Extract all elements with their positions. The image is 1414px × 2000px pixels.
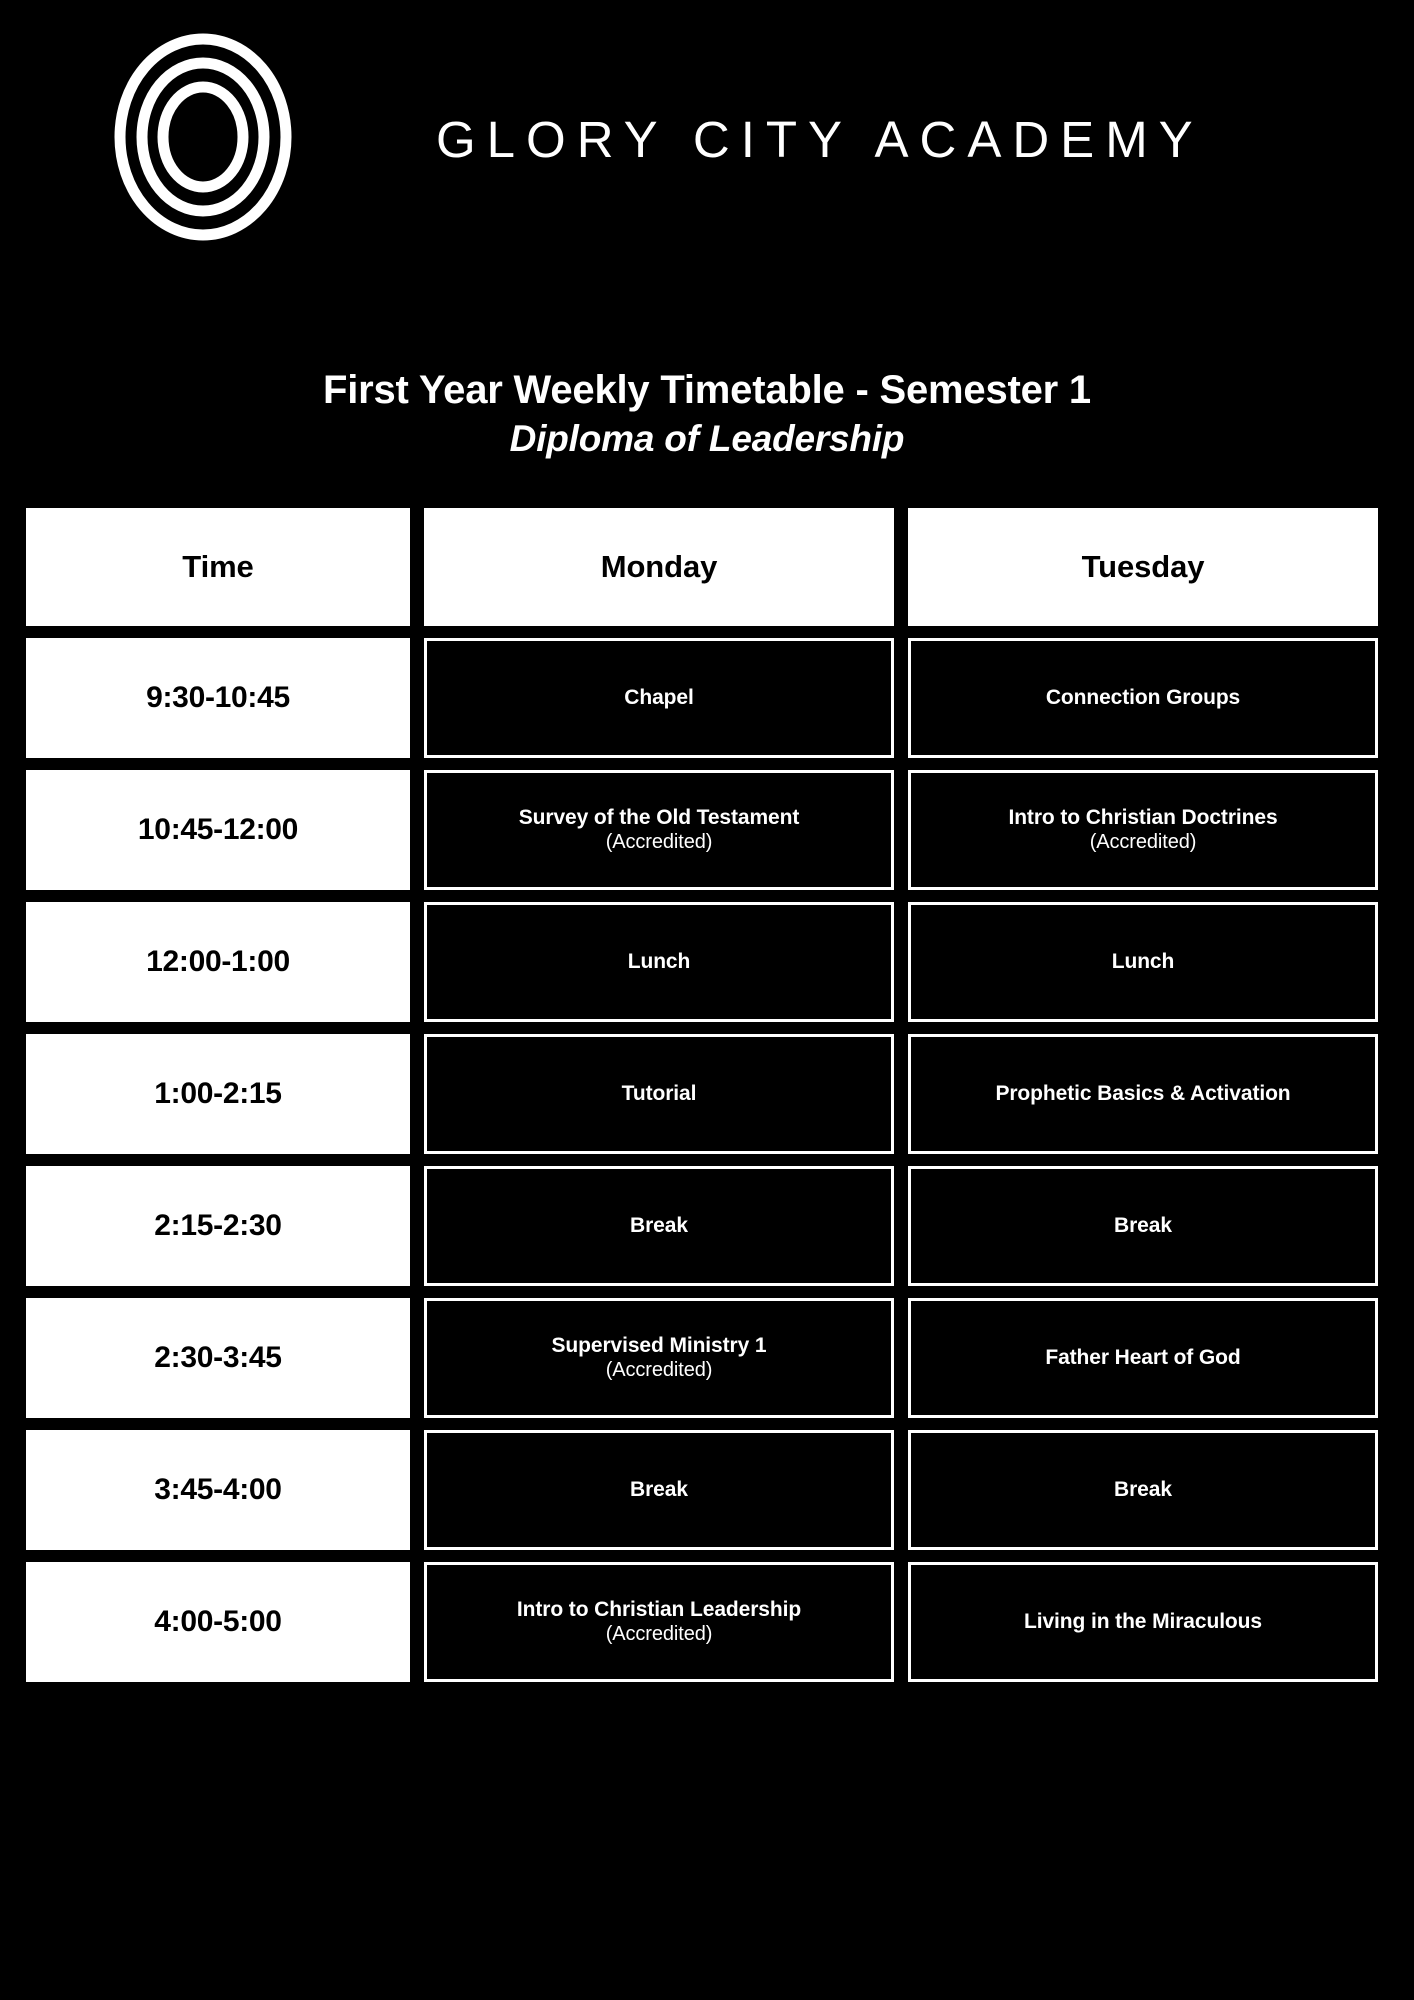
class-subject: Prophetic Basics & Activation [995, 1081, 1290, 1107]
class-cell-monday: Lunch [424, 902, 894, 1022]
table-row: 10:45-12:00 Survey of the Old Testament … [26, 770, 1388, 890]
time-slot: 3:45-4:00 [26, 1430, 410, 1550]
table-header-row: Time Monday Tuesday [26, 508, 1388, 626]
class-cell-monday: Survey of the Old Testament (Accredited) [424, 770, 894, 890]
class-note: (Accredited) [1090, 830, 1197, 855]
time-slot: 10:45-12:00 [26, 770, 410, 890]
table-row: 1:00-2:15 Tutorial Prophetic Basics & Ac… [26, 1034, 1388, 1154]
class-note: (Accredited) [606, 1622, 713, 1647]
class-cell-monday: Supervised Ministry 1 (Accredited) [424, 1298, 894, 1418]
class-cell-tuesday: Intro to Christian Doctrines (Accredited… [908, 770, 1378, 890]
table-row: 9:30-10:45 Chapel Connection Groups [26, 638, 1388, 758]
time-slot: 12:00-1:00 [26, 902, 410, 1022]
class-subject: Break [1114, 1477, 1172, 1503]
concentric-circles-logo-icon [110, 32, 296, 242]
table-row: 12:00-1:00 Lunch Lunch [26, 902, 1388, 1022]
class-subject: Intro to Christian Doctrines [1008, 805, 1277, 831]
class-subject: Intro to Christian Leadership [517, 1597, 801, 1623]
class-cell-monday: Intro to Christian Leadership (Accredite… [424, 1562, 894, 1682]
table-row: 3:45-4:00 Break Break [26, 1430, 1388, 1550]
class-note: (Accredited) [606, 1358, 713, 1383]
timetable-poster: GLORY CITY ACADEMY First Year Weekly Tim… [0, 0, 1414, 2000]
class-subject: Break [630, 1477, 688, 1503]
class-cell-tuesday: Break [908, 1166, 1378, 1286]
class-subject: Lunch [628, 949, 691, 975]
class-cell-tuesday: Prophetic Basics & Activation [908, 1034, 1378, 1154]
time-slot: 2:30-3:45 [26, 1298, 410, 1418]
class-subject: Chapel [624, 685, 693, 711]
class-subject: Supervised Ministry 1 [552, 1333, 767, 1359]
table-row: 2:30-3:45 Supervised Ministry 1 (Accredi… [26, 1298, 1388, 1418]
class-subject: Living in the Miraculous [1024, 1609, 1262, 1635]
class-subject: Survey of the Old Testament [519, 805, 799, 831]
class-subject: Father Heart of God [1045, 1345, 1240, 1371]
time-slot: 2:15-2:30 [26, 1166, 410, 1286]
time-slot: 9:30-10:45 [26, 638, 410, 758]
class-cell-tuesday: Living in the Miraculous [908, 1562, 1378, 1682]
class-subject: Break [630, 1213, 688, 1239]
class-cell-monday: Break [424, 1430, 894, 1550]
brand-name: GLORY CITY ACADEMY [436, 110, 1204, 169]
page-subtitle: Diploma of Leadership [0, 417, 1414, 461]
column-header-monday: Monday [424, 508, 894, 626]
page-title: First Year Weekly Timetable - Semester 1 [0, 368, 1414, 413]
class-cell-monday: Tutorial [424, 1034, 894, 1154]
class-subject: Break [1114, 1213, 1172, 1239]
class-cell-tuesday: Break [908, 1430, 1378, 1550]
class-note: (Accredited) [606, 830, 713, 855]
class-cell-tuesday: Father Heart of God [908, 1298, 1378, 1418]
table-row: 4:00-5:00 Intro to Christian Leadership … [26, 1562, 1388, 1682]
class-cell-monday: Chapel [424, 638, 894, 758]
title-block: First Year Weekly Timetable - Semester 1… [0, 368, 1414, 460]
column-header-tuesday: Tuesday [908, 508, 1378, 626]
brand-header: GLORY CITY ACADEMY [0, 0, 1414, 290]
time-slot: 1:00-2:15 [26, 1034, 410, 1154]
class-subject: Lunch [1112, 949, 1175, 975]
class-cell-tuesday: Lunch [908, 902, 1378, 1022]
column-header-time: Time [26, 508, 410, 626]
table-row: 2:15-2:30 Break Break [26, 1166, 1388, 1286]
class-subject: Connection Groups [1046, 685, 1240, 711]
class-cell-tuesday: Connection Groups [908, 638, 1378, 758]
class-cell-monday: Break [424, 1166, 894, 1286]
timetable: Time Monday Tuesday 9:30-10:45 Chapel Co… [26, 508, 1388, 1682]
time-slot: 4:00-5:00 [26, 1562, 410, 1682]
class-subject: Tutorial [622, 1081, 697, 1107]
